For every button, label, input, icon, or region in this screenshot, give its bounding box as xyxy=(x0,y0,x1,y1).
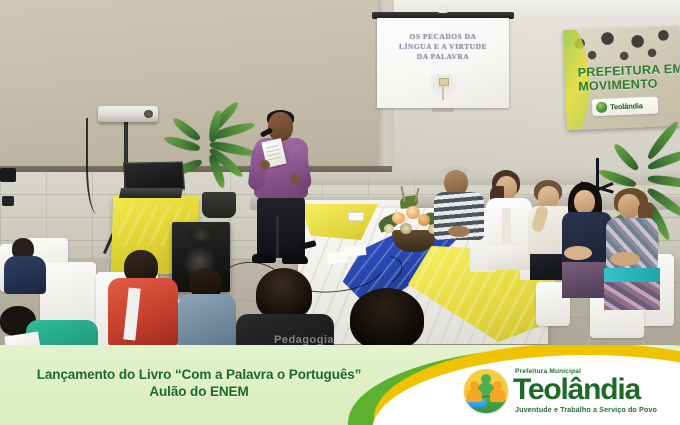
audience-member xyxy=(108,250,182,346)
panelist-hands xyxy=(448,226,470,237)
presenter-hand xyxy=(290,174,300,184)
wall-fixture xyxy=(0,168,16,182)
slide-line-2: LÍNGUA E A VIRTUDE xyxy=(377,42,509,52)
flower-bloom xyxy=(400,223,412,234)
panelist-skirt xyxy=(488,246,530,270)
emblem-person-body xyxy=(490,389,505,402)
projection-screen-knob xyxy=(438,5,448,13)
teolandia-logo-text: Prefeitura Municipal Teolândia Juventude… xyxy=(513,369,657,413)
projector-cable xyxy=(86,118,108,214)
banner-logo-mark-icon xyxy=(596,102,607,113)
panelist-hands xyxy=(610,252,640,266)
palm-frond xyxy=(647,174,680,189)
flower-bloom xyxy=(418,214,430,226)
audience-shirt-red xyxy=(108,278,178,346)
logo-name: Teolândia xyxy=(513,376,657,404)
footer-title: Lançamento do Livro “Com a Palavra o Por… xyxy=(4,367,394,401)
footer-title-line-2: Aulão do ENEM xyxy=(4,384,394,401)
flower-basket xyxy=(392,230,436,252)
panelist-head xyxy=(574,190,595,214)
audience-head xyxy=(350,288,424,350)
presenter-head xyxy=(268,112,293,141)
slide-title: OS PECADOS DA LÍNGUA E A VIRTUDE DA PALA… xyxy=(377,32,509,62)
panelist-man xyxy=(434,168,486,248)
presenter-leg-gap xyxy=(276,216,279,258)
projection-screen-stand xyxy=(432,108,454,112)
panelist-dress-skirt xyxy=(604,282,660,310)
panelist-blazer-opening xyxy=(502,208,511,244)
audience-head-curly xyxy=(256,268,312,320)
slide-line-1: OS PECADOS DA xyxy=(377,32,509,42)
emblem-person-body xyxy=(467,389,482,402)
audience-member xyxy=(2,238,48,294)
audience-shirt xyxy=(4,256,46,294)
teolandia-emblem-icon xyxy=(464,369,508,413)
panelist-head xyxy=(618,194,640,219)
presenter-hand xyxy=(260,160,270,170)
panelist-hands xyxy=(564,246,592,260)
logo-slogan: Juventude e Trabalho a Serviço do Povo xyxy=(515,406,657,413)
laptop-keyboard xyxy=(119,188,183,198)
projection-screen: OS PECADOS DA LÍNGUA E A VIRTUDE DA PALA… xyxy=(377,18,509,108)
flower-bloom xyxy=(392,212,405,224)
wall-fixture xyxy=(2,196,14,206)
slide-line-3: DA PALAVRA xyxy=(377,52,509,62)
presenter-shoe xyxy=(282,255,308,264)
panelist-woman-patterned xyxy=(606,190,664,308)
laptop-screen xyxy=(123,161,185,190)
banner-logo: Teolândia xyxy=(592,97,659,117)
wall-banner: PREFEITURA EM MOVIMENTO Teolândia xyxy=(563,26,680,130)
plant-pot xyxy=(202,192,236,218)
audience-member xyxy=(178,268,240,350)
banner-logo-text: Teolândia xyxy=(610,101,643,111)
audience-shirt-grey xyxy=(178,294,236,350)
event-photo: OS PECADOS DA LÍNGUA E A VIRTUDE DA PALA… xyxy=(0,0,680,425)
table-paper xyxy=(348,212,364,221)
footer-title-line-1: Lançamento do Livro “Com a Palavra o Por… xyxy=(4,367,394,384)
presenter-trousers xyxy=(257,196,305,258)
flower-bloom xyxy=(384,224,394,233)
slide-graphic xyxy=(430,74,456,102)
teolandia-logo: Prefeitura Municipal Teolândia Juventude… xyxy=(464,362,676,420)
